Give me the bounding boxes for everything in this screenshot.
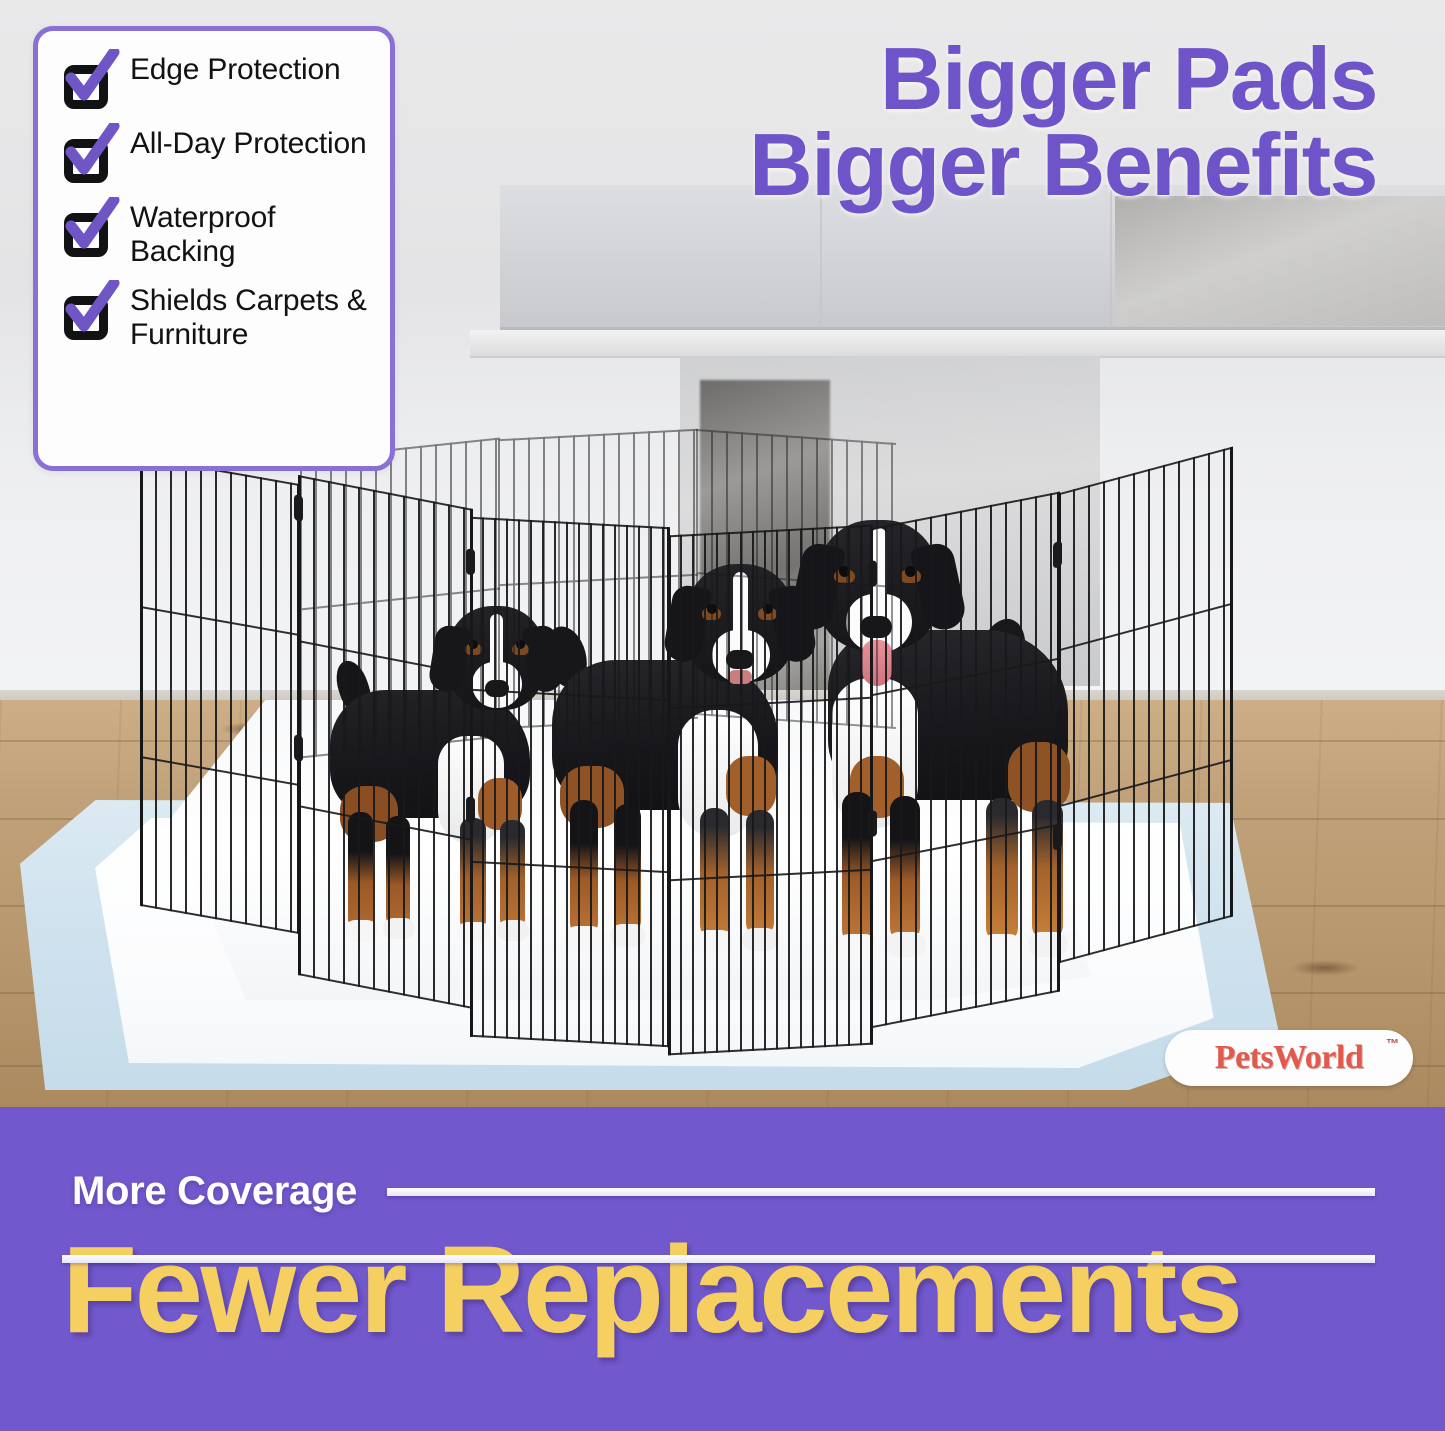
divider-rule-bottom: [62, 1255, 1375, 1263]
product-photo-scene: Edge Protection All-Day Protection: [0, 0, 1445, 1107]
pen-gate-latch-icon: [1053, 540, 1062, 568]
feature-checklist-card: Edge Protection All-Day Protection: [33, 26, 395, 471]
pen-panel-back: [300, 437, 500, 758]
pen-panel-back: [498, 429, 698, 729]
pen-gate-latch-icon: [1053, 682, 1062, 710]
brand-name: PetsWorld: [1215, 1039, 1363, 1077]
feature-item: Waterproof Backing: [60, 199, 374, 268]
trademark-symbol: ™: [1386, 1036, 1399, 1051]
feature-label: Edge Protection: [130, 51, 340, 87]
feature-item: All-Day Protection: [60, 125, 374, 185]
feature-label: Shields Carpets & Furniture: [130, 282, 374, 351]
banner-subhead: More Coverage: [72, 1169, 357, 1214]
divider-rule-top: [387, 1188, 1375, 1196]
checkbox-check-icon: [60, 203, 116, 259]
feature-label: Waterproof Backing: [130, 199, 374, 268]
counter-edge: [470, 330, 1445, 358]
feature-label: All-Day Protection: [130, 125, 367, 161]
upper-cabinet-glass: [1115, 196, 1445, 326]
pen-panel-right: [870, 492, 1060, 1029]
bottom-banner: More Coverage Fewer Replacements: [0, 1107, 1445, 1431]
checkbox-check-icon: [60, 55, 116, 111]
pen-panel-back: [696, 429, 896, 729]
product-marketing-image: Edge Protection All-Day Protection: [0, 0, 1445, 1431]
feature-item: Shields Carpets & Furniture: [60, 282, 374, 351]
wire-playpen: [0, 430, 1445, 1030]
banner-subhead-row: More Coverage: [72, 1169, 1375, 1214]
pen-gate-latch-icon: [1053, 822, 1062, 850]
pen-panel-left-back: [140, 456, 300, 934]
feature-item: Edge Protection: [60, 51, 374, 111]
brand-logo: PetsWorld ™: [1165, 1030, 1413, 1086]
banner-headline: Fewer Replacements: [62, 1229, 1375, 1352]
headline: Bigger Pads Bigger Benefits: [637, 36, 1377, 208]
checkbox-check-icon: [60, 129, 116, 185]
headline-line-1: Bigger Pads: [880, 29, 1377, 128]
headline-line-2: Bigger Benefits: [637, 122, 1377, 208]
checkbox-check-icon: [60, 286, 116, 342]
pen-panel-gate: [1058, 447, 1233, 964]
